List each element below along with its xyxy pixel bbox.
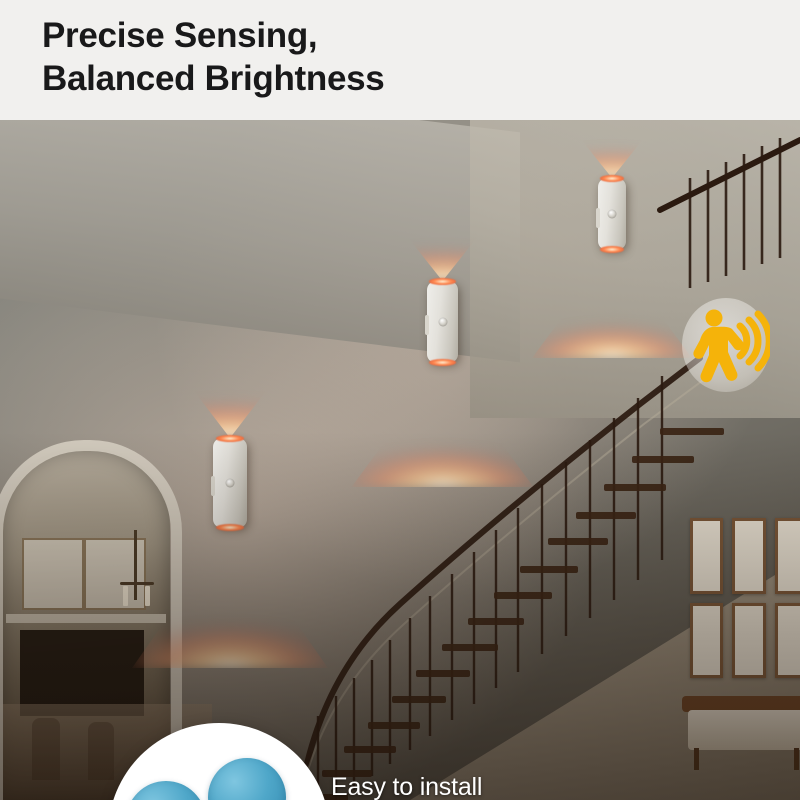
fixture-body [213,438,247,528]
wall-light-lower [213,438,247,528]
settee-leg [694,748,699,770]
light-emitter-bottom [429,359,455,366]
fixture-body [598,178,626,250]
light-emitter-bottom [600,246,624,253]
staircase [0,118,800,800]
fixture-side-notch [211,476,215,496]
light-emitter-bottom [216,524,245,531]
motion-sensor-lens [438,318,447,327]
page-title: Precise Sensing, Balanced Brightness [42,14,742,101]
install-title: Easy to install [331,773,791,800]
motion-sensor-badge [682,298,770,392]
settee-seat [688,710,800,750]
gallery-wall [690,518,800,678]
framed-picture [775,603,800,679]
fixture-body [427,281,458,363]
hero-photo: Mounting Accessories x2 Easy to install … [0,118,800,800]
motion-wave-icon [740,314,769,368]
iron-sheet-disc [126,781,206,800]
framed-picture [690,518,723,594]
walking-person-icon [693,310,743,383]
framed-picture [732,518,765,594]
header-band: Precise Sensing, Balanced Brightness [0,0,800,120]
install-instructions: Easy to install 1. Tear off the gummed p… [331,773,791,800]
light-emitter-top [429,278,455,285]
motion-sensor-lens [226,479,235,488]
settee-leg [794,748,799,770]
wall-light-upper [598,178,626,250]
light-emitter-top [216,435,245,442]
framed-picture [775,518,800,594]
motion-sensor-lens [608,210,617,219]
settee-bench [682,696,800,770]
light-emitter-top [600,175,624,182]
iron-sheet-disc [208,758,286,800]
fixture-side-notch [425,315,429,335]
fixture-side-notch [596,208,600,228]
wall-light-middle [427,281,458,363]
framed-picture [732,603,765,679]
product-marketing-image: Precise Sensing, Balanced Brightness [0,0,800,800]
framed-picture [690,603,723,679]
